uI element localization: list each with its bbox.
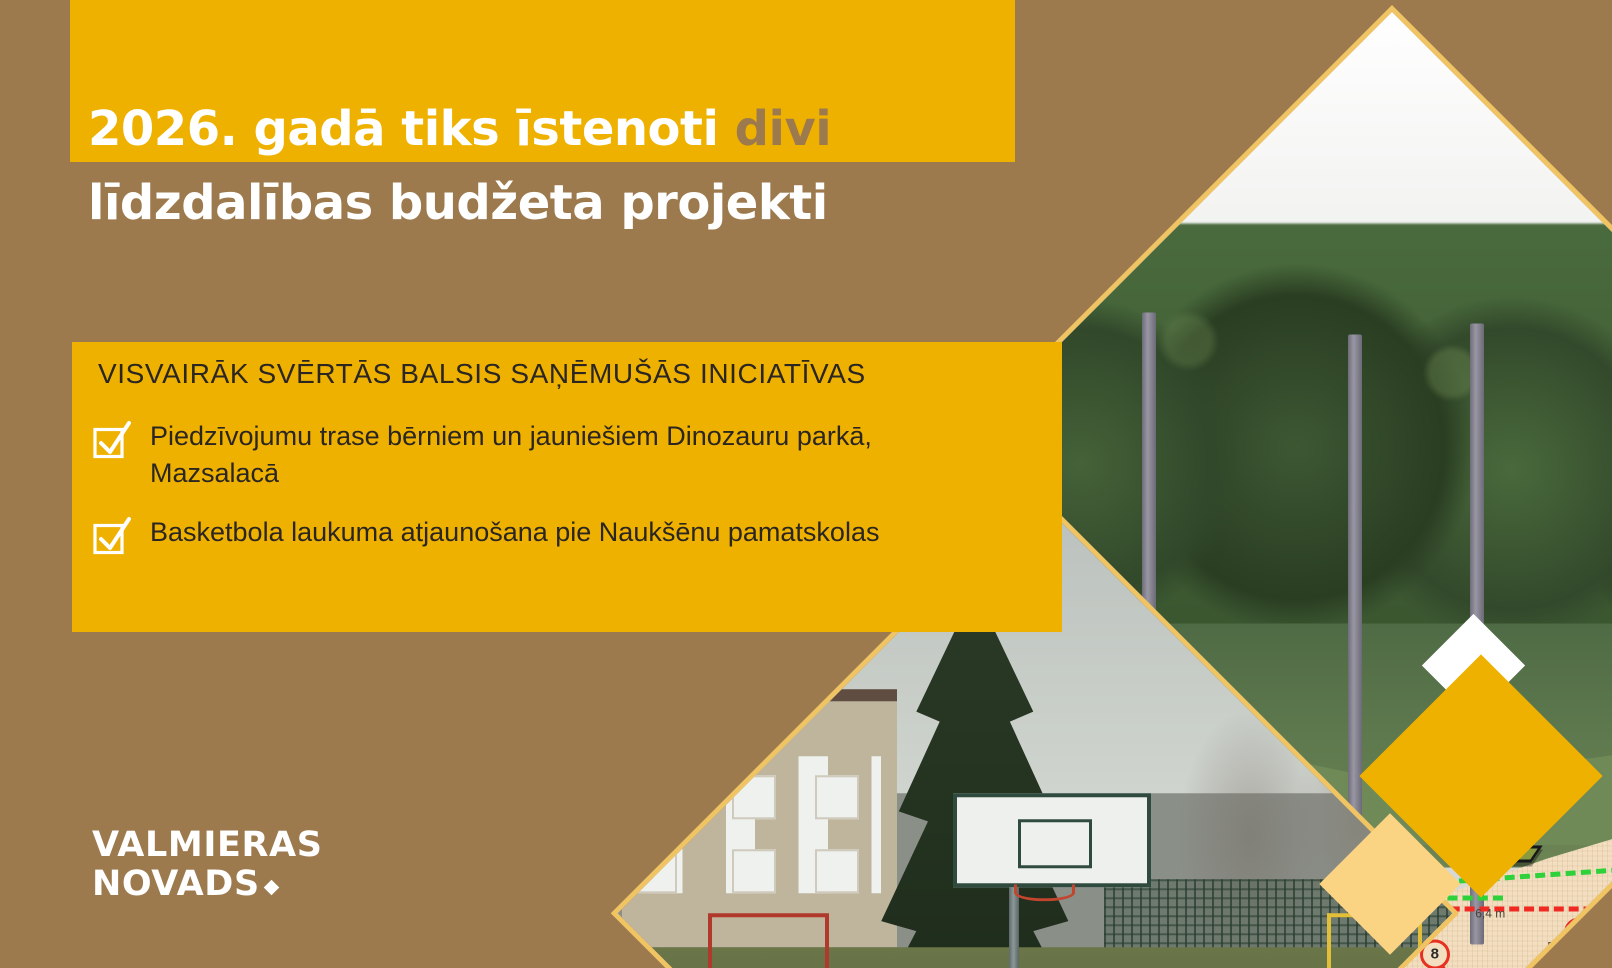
initiatives-heading: VISVAIRĀK SVĒRTĀS BALSIS SAŅĒMUŠĀS INICI… [98,358,866,390]
court-swing-frame [1327,913,1422,968]
initiative-label: Piedzīvojumu trase bērniem un jauniešiem… [150,418,970,492]
trail-dimension-label: 5,3 m [1231,923,1261,937]
trail-platform-deck [1320,884,1393,901]
logo-line-2: NOVADS [92,864,260,904]
court-hoop-pole [1009,844,1019,968]
trail-dimension-label: 5,9 m [1547,939,1577,953]
trail-platform-badge: 8 [1420,939,1450,968]
headline-line1-text: 2026. gadā tiks īstenoti [88,101,735,157]
deco-diamond-white [1422,614,1525,717]
deco-diamond-peach [1319,813,1460,954]
court-grass [611,948,1460,968]
trail-platform-badge: 10 [1464,828,1494,858]
trail-dimension-label: 9,9 m [1026,873,1056,887]
trail-dimension-label: 6,4 m [1475,906,1505,920]
trail-platform-deck [931,806,1004,823]
trail-tree-trunk [1142,312,1156,889]
court-school-building [622,690,897,948]
trail-platform-deck [1109,878,1182,895]
court-window [732,849,776,893]
court-window [650,775,694,819]
trail-platform-deck [1470,845,1543,862]
deco-diamond-gold [1359,654,1602,897]
trail-hill-silhouette [840,690,1612,845]
court-football-goal [708,913,828,968]
logo-diamond-dot [263,880,279,896]
court-window [633,849,677,893]
trail-green-ground [840,623,1612,867]
trail-platform-badge: 12 [1564,917,1594,947]
trail-route-red [1420,906,1612,911]
court-fence [1104,879,1459,968]
trail-platform-badge: 3 [1087,784,1117,814]
checkbox-checked-icon [92,516,132,561]
trail-route-red [1412,913,1463,968]
poster-canvas: 3 9 10 11 7 8 12 13 14 9,9 m 5,3 m 6,4 m… [0,0,1612,968]
trail-sand-plan [840,779,1612,968]
logo-line-2-wrap: NOVADS [92,865,323,904]
court-window [732,775,776,819]
headline-line2-text: līdzdalības budžeta projekti [88,175,828,231]
court-window [815,849,859,893]
trail-tree-trunk [1470,323,1484,945]
checkbox-checked-icon [92,420,132,465]
valmieras-novads-logo: VALMIERAS NOVADS [92,826,323,904]
court-window [815,775,859,819]
initiatives-list: Piedzīvojumu trase bērniem un jauniešiem… [92,418,992,583]
headline-accent-word: divi [735,101,832,157]
page-title: 2026. gadā tiks īstenoti divi līdzdalība… [88,92,1028,240]
trail-route-green [1003,828,1400,882]
list-item: Piedzīvojumu trase bērniem un jauniešiem… [92,418,992,492]
trail-route-green [1458,866,1612,883]
court-hoop-rim [1014,884,1074,901]
trail-dimension-line [1092,934,1403,935]
trail-platform-badge: 9 [1287,851,1317,881]
trail-tree-trunk [1348,335,1362,923]
logo-line-1: VALMIERAS [92,826,323,865]
list-item: Basketbola laukuma atjaunošana pie Naukš… [92,514,992,561]
trail-platform-deck [1597,890,1612,907]
trail-route-green [1159,895,1503,900]
initiative-label: Basketbola laukuma atjaunošana pie Naukš… [150,514,879,551]
court-backboard [953,793,1151,888]
court-bare-trees [1173,655,1431,968]
